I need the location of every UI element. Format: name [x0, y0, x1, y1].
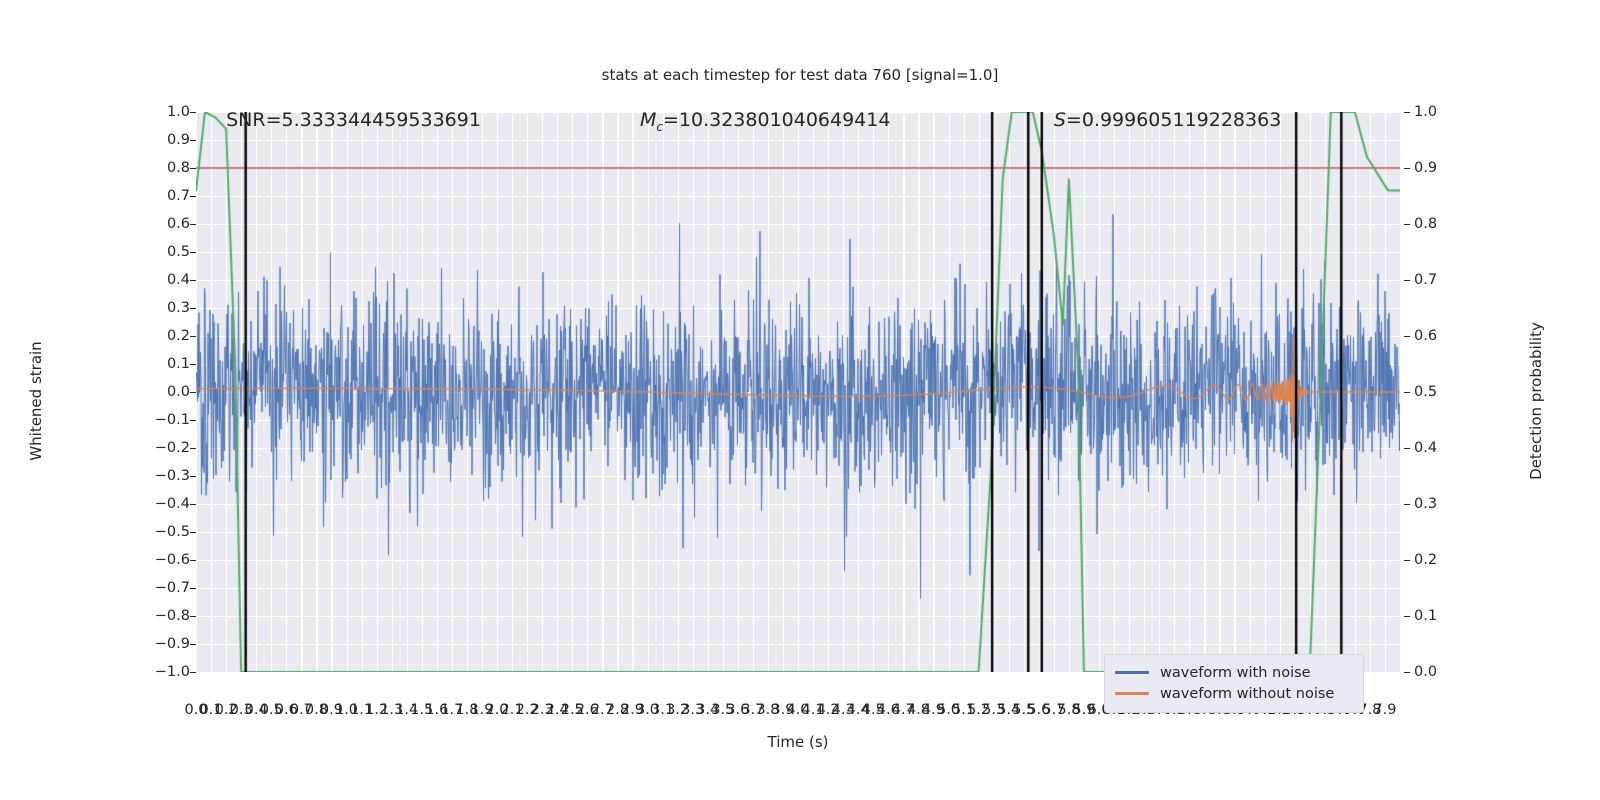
- y-tick-label-right: 0.3: [1414, 496, 1458, 512]
- y-tick-label-right: 0.2: [1414, 552, 1458, 568]
- y-tick-label-left: −0.5: [150, 524, 190, 540]
- legend-item: waveform without noise: [1115, 683, 1353, 704]
- y-tick-label-left: 0.8: [150, 160, 190, 176]
- y-tick-label-left: −0.7: [150, 580, 190, 596]
- y-tick-label-left: −0.3: [150, 468, 190, 484]
- y-tick-mark-right: [1404, 392, 1410, 393]
- y-tick-label-right: 0.1: [1414, 608, 1458, 624]
- s-value: =0.999605119228363: [1066, 112, 1281, 131]
- legend-item: waveform with noise: [1115, 662, 1353, 683]
- y-tick-mark-left: [190, 644, 196, 645]
- series-canvas-wrap: [196, 112, 1400, 672]
- y-tick-mark-left: [190, 364, 196, 365]
- y-tick-label-left: 0.5: [150, 244, 190, 260]
- y-tick-mark-right: [1404, 336, 1410, 337]
- y-tick-label-right: 0.9: [1414, 160, 1458, 176]
- y-tick-mark-left: [190, 168, 196, 169]
- y-tick-label-left: 0.9: [150, 132, 190, 148]
- mc-subscript: c: [656, 120, 663, 134]
- y-tick-label-left: 0.6: [150, 216, 190, 232]
- page-title: stats at each timestep for test data 760…: [0, 66, 1600, 84]
- y-tick-label-right: 0.7: [1414, 272, 1458, 288]
- y-tick-label-left: 0.7: [150, 188, 190, 204]
- y-tick-mark-left: [190, 336, 196, 337]
- legend-label-noise: waveform with noise: [1160, 665, 1311, 681]
- y-tick-label-left: −0.2: [150, 440, 190, 456]
- y-tick-mark-left: [190, 504, 196, 505]
- y-tick-mark-left: [190, 560, 196, 561]
- y-tick-label-left: −0.4: [150, 496, 190, 512]
- y-tick-label-left: 0.3: [150, 300, 190, 316]
- y-tick-mark-right: [1404, 168, 1410, 169]
- s-symbol: S: [1054, 112, 1066, 131]
- y-tick-label-left: 0.1: [150, 356, 190, 372]
- y-tick-mark-left: [190, 532, 196, 533]
- legend-swatch-signal: [1115, 692, 1149, 695]
- y-tick-mark-right: [1404, 616, 1410, 617]
- plot-figure: stats at each timestep for test data 760…: [0, 0, 1600, 800]
- mc-value: =10.323801040649414: [663, 112, 890, 131]
- y-tick-mark-left: [190, 196, 196, 197]
- y-tick-mark-left: [190, 252, 196, 253]
- y-tick-label-left: −0.6: [150, 552, 190, 568]
- mc-symbol: M: [640, 112, 656, 131]
- legend-swatch-noise: [1115, 671, 1149, 674]
- y-tick-mark-left: [190, 112, 196, 113]
- y-tick-mark-left: [190, 224, 196, 225]
- y-tick-label-left: −0.8: [150, 608, 190, 624]
- y-tick-label-left: −0.1: [150, 412, 190, 428]
- y-tick-mark-right: [1404, 560, 1410, 561]
- y-tick-mark-left: [190, 616, 196, 617]
- y-tick-mark-left: [190, 420, 196, 421]
- legend-label-signal: waveform without noise: [1160, 686, 1334, 702]
- y-tick-mark-right: [1404, 112, 1410, 113]
- y-tick-mark-right: [1404, 448, 1410, 449]
- y-axis-left-title: Whitened strain: [27, 291, 45, 511]
- y-tick-mark-left: [190, 672, 196, 673]
- y-tick-label-left: 0.2: [150, 328, 190, 344]
- y-tick-label-right: 1.0: [1414, 104, 1458, 120]
- annotation-snr: SNR=5.333344459533691: [226, 112, 481, 131]
- y-tick-mark-left: [190, 476, 196, 477]
- y-tick-mark-left: [190, 308, 196, 309]
- annotation-significance: S=0.999605119228363: [1054, 112, 1281, 131]
- y-tick-mark-left: [190, 280, 196, 281]
- y-tick-mark-right: [1404, 672, 1410, 673]
- legend: waveform with noise waveform without noi…: [1104, 654, 1364, 713]
- y-tick-mark-left: [190, 588, 196, 589]
- x-axis-title: Time (s): [196, 733, 1400, 751]
- annotation-chirp-mass: Mc=10.323801040649414: [640, 112, 890, 134]
- y-tick-label-left: 0.0: [150, 384, 190, 400]
- y-tick-label-left: 0.4: [150, 272, 190, 288]
- y-tick-label-left: −0.9: [150, 636, 190, 652]
- y-axis-right-title: Detection probability: [1527, 271, 1545, 531]
- y-tick-mark-left: [190, 140, 196, 141]
- y-tick-label-right: 0.0: [1414, 664, 1458, 680]
- y-tick-label-right: 0.6: [1414, 328, 1458, 344]
- y-tick-label-left: 1.0: [150, 104, 190, 120]
- y-tick-label-right: 0.8: [1414, 216, 1458, 232]
- y-tick-mark-left: [190, 448, 196, 449]
- y-tick-mark-right: [1404, 504, 1410, 505]
- y-tick-label-right: 0.5: [1414, 384, 1458, 400]
- plot-area: SNR=5.333344459533691 Mc=10.323801040649…: [196, 112, 1400, 672]
- y-tick-mark-right: [1404, 224, 1410, 225]
- chart-canvas: [196, 112, 1400, 672]
- y-tick-mark-right: [1404, 280, 1410, 281]
- y-tick-label-right: 0.4: [1414, 440, 1458, 456]
- y-tick-mark-left: [190, 392, 196, 393]
- y-tick-label-left: −1.0: [150, 664, 190, 680]
- x-tick-label: 7.9: [1373, 702, 1396, 718]
